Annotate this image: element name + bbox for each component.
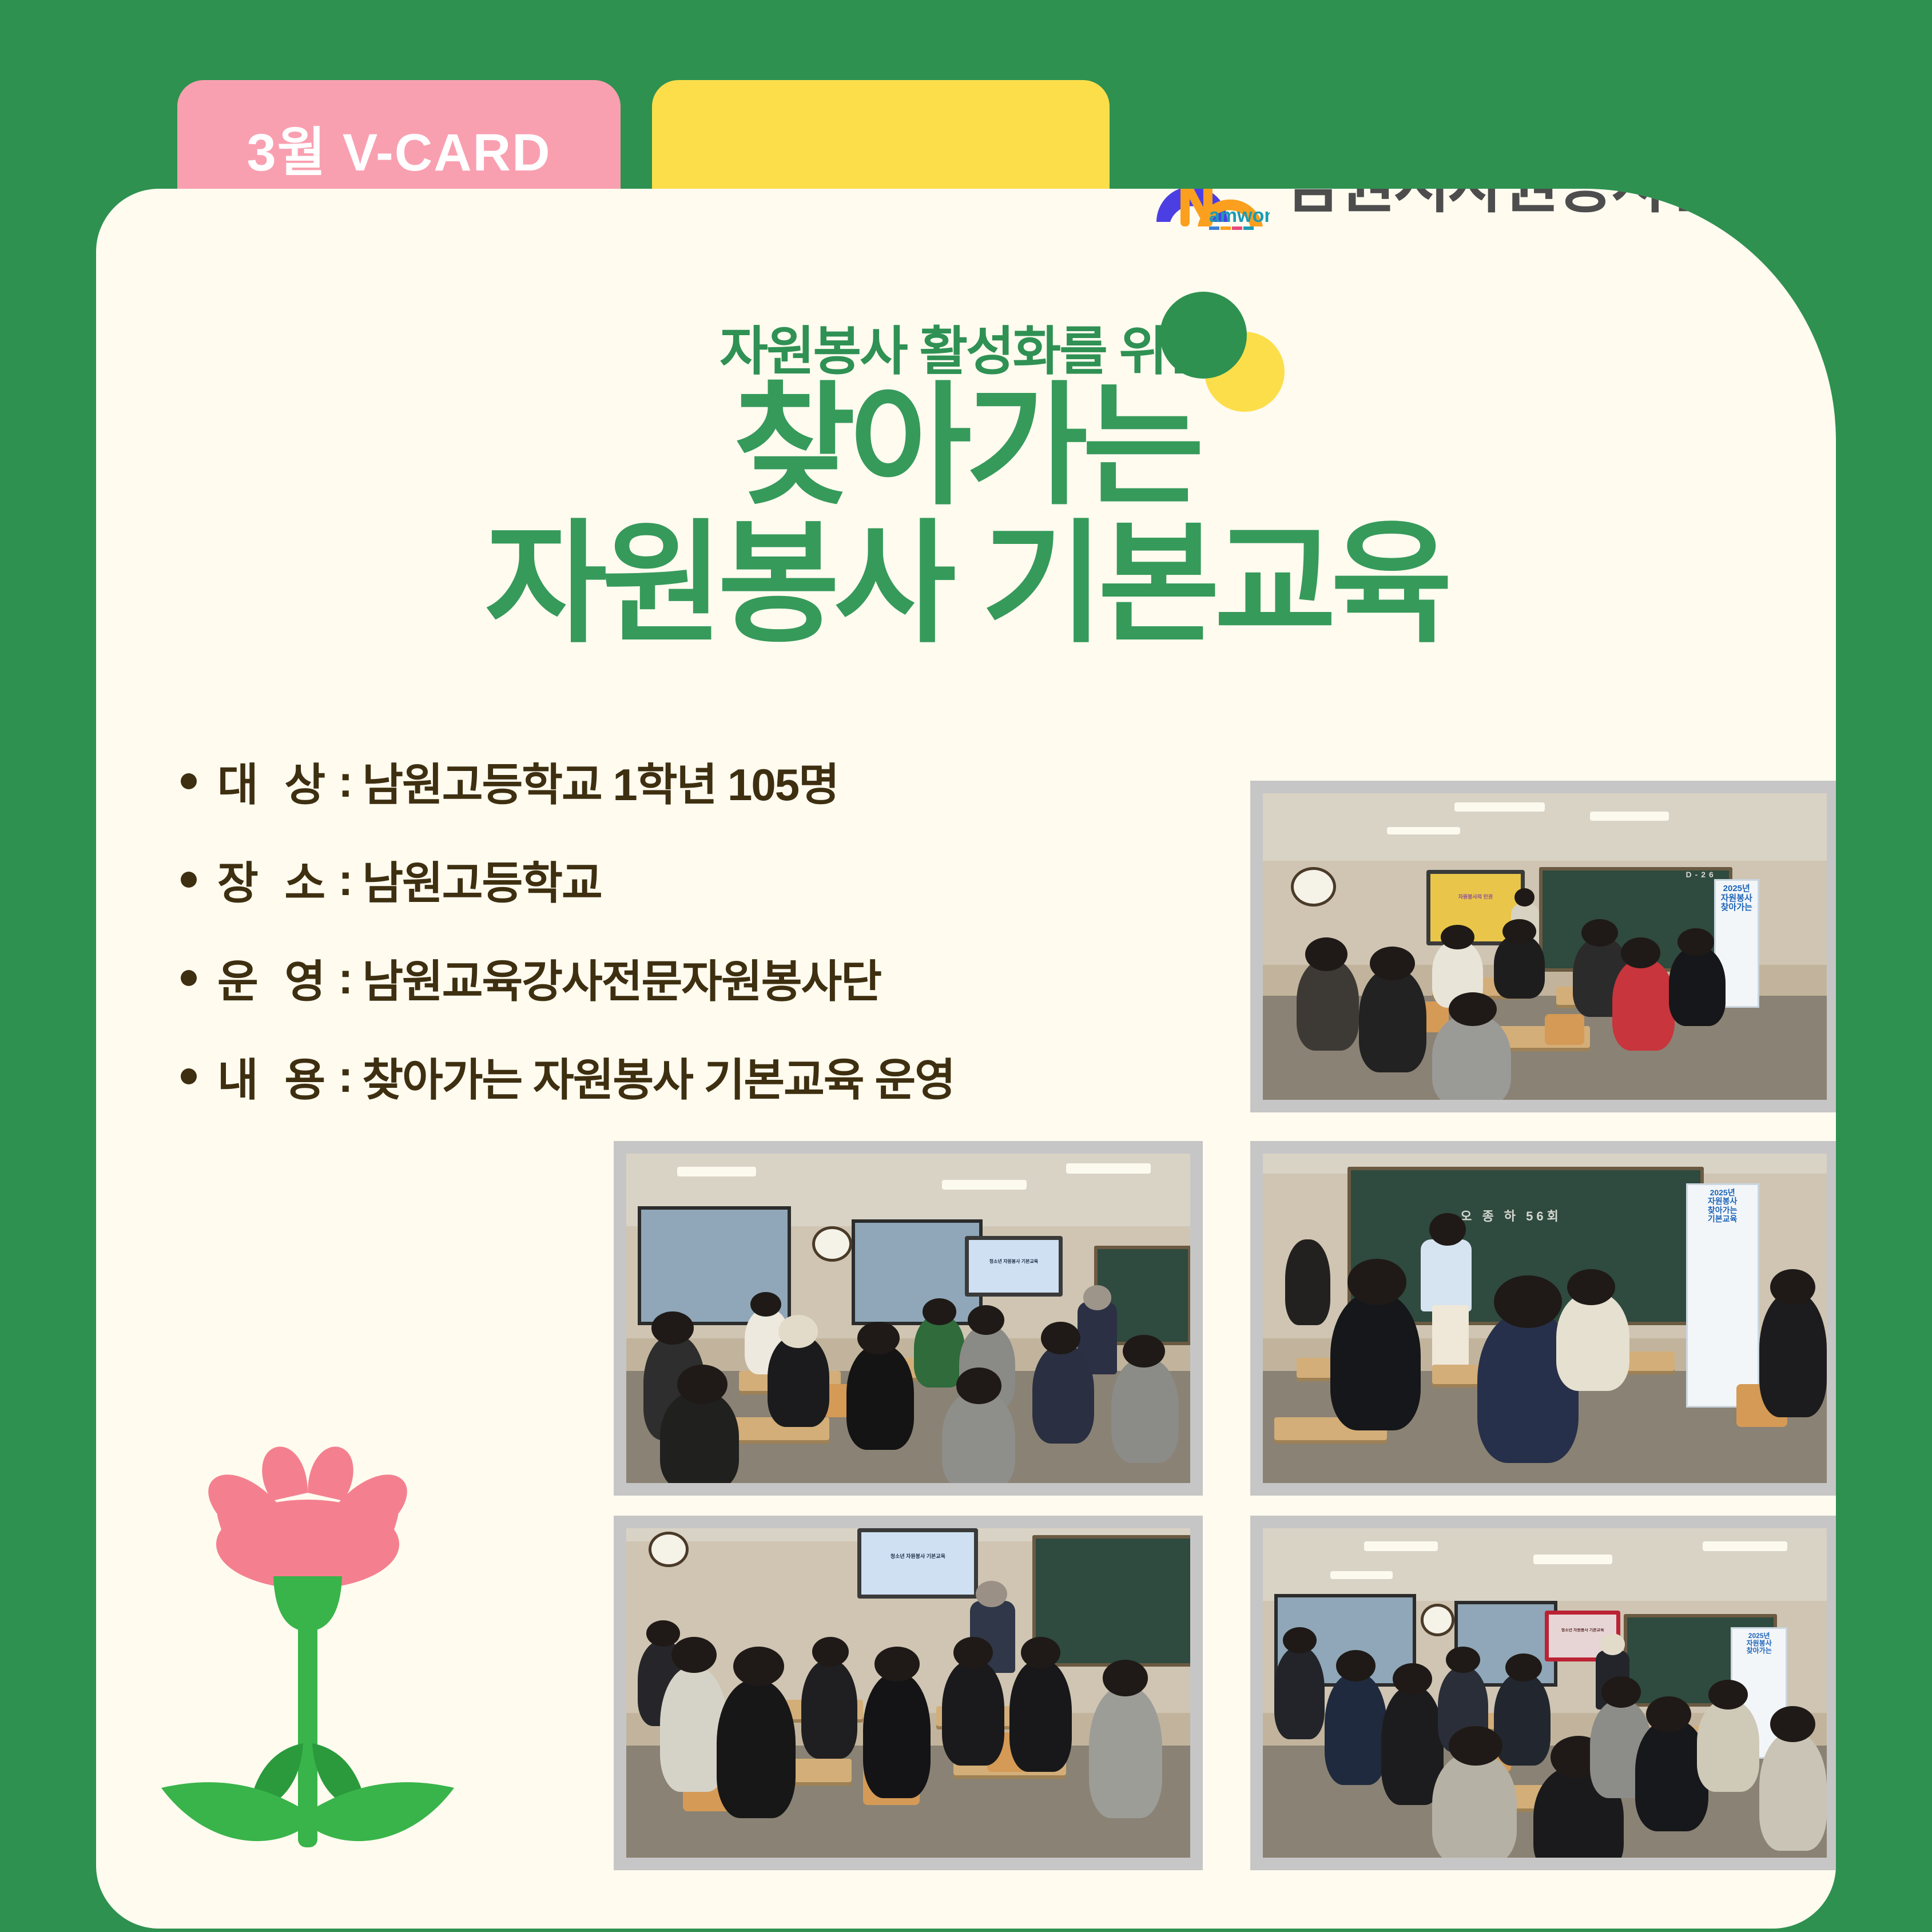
info-row: 장 소 : 남원고등학교 — [181, 848, 1107, 912]
info-value: 남원고등학교 — [362, 848, 602, 912]
month-tab-label: 3월 V-CARD — [247, 110, 551, 186]
info-label: 대 상 — [217, 749, 332, 813]
info-colon: : — [338, 952, 352, 1004]
organization-logo: amwon 남원시자원봉사센터 — [1150, 189, 1775, 234]
event-photo: 오 종 하 56회 2025년 자원봉사 찾아가는 기본교육 — [1250, 1141, 1836, 1496]
event-info-list: 대 상 : 남원고등학교 1학년 105명 장 소 : 남원고등학교 운 영 :… — [181, 749, 1107, 1143]
info-row: 운 영 : 남원교육강사전문자원봉사단 — [181, 946, 1107, 1010]
bullet-icon — [181, 970, 197, 986]
info-row: 내 용 : 찾아가는 자원봉사 기본교육 운영 — [181, 1044, 1107, 1108]
title-line-2: 자원봉사 기본교육 — [96, 515, 1836, 653]
green-circle-icon — [1160, 292, 1247, 379]
screen-text: 청소년 자원봉사 기본교육 — [868, 1553, 968, 1560]
svg-text:amwon: amwon — [1209, 205, 1270, 226]
info-label: 운 영 — [217, 946, 332, 1010]
logo-name-text: 남원시자원봉사센터 — [1285, 189, 1775, 225]
info-row: 대 상 : 남원고등학교 1학년 105명 — [181, 749, 1107, 813]
bullet-icon — [181, 872, 197, 888]
info-label: 장 소 — [217, 848, 332, 912]
title-line-1: 찾아가는 — [96, 377, 1836, 515]
page-title: 찾아가는 자원봉사 기본교육 — [96, 377, 1836, 654]
screen-text: 청소년 자원봉사 기본교육 — [974, 1259, 1054, 1265]
chalkboard-text: 오 종 하 56회 — [1460, 1206, 1562, 1225]
event-photo: 청소년 자원봉사 기본교육 — [614, 1141, 1203, 1496]
screen-text: 청소년 자원봉사 기본교육 — [1553, 1628, 1612, 1633]
info-colon: : — [338, 854, 352, 906]
bullet-icon — [181, 1068, 197, 1084]
info-colon: : — [338, 756, 352, 808]
chalkboard-text: D-26 — [1686, 870, 1717, 879]
info-value: 남원고등학교 1학년 105명 — [362, 749, 838, 813]
event-photo: 자원봉사의 인권 D-26 2025년 자원봉사 찾아가는 — [1250, 781, 1836, 1112]
info-colon: : — [338, 1051, 352, 1103]
event-photo: 청소년 자원봉사 기본교육 2025년 자원봉사 찾아가는 — [1250, 1516, 1836, 1870]
namwon-logo-mark-icon: amwon — [1150, 189, 1270, 234]
flower-decoration-icon — [136, 1373, 479, 1865]
bullet-icon — [181, 773, 197, 789]
info-value: 찾아가는 자원봉사 기본교육 운영 — [362, 1044, 955, 1108]
info-label: 내 용 — [217, 1044, 332, 1108]
event-photo: 청소년 자원봉사 기본교육 — [614, 1516, 1203, 1870]
screen-text: 자원봉사의 인권 — [1436, 894, 1515, 900]
info-value: 남원교육강사전문자원봉사단 — [362, 946, 881, 1010]
vcard-panel: amwon 남원시자원봉사센터 자원봉사 활성화를 위한 찾아가는 자원봉사 기… — [96, 189, 1836, 1929]
